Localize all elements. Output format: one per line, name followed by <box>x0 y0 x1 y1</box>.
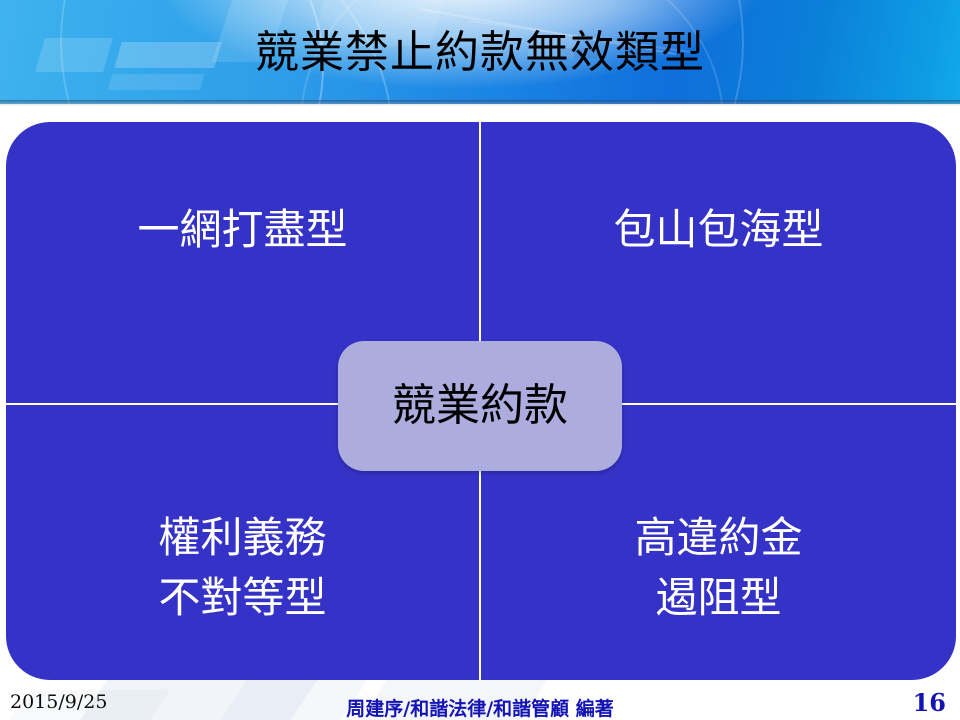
quadrant-top-left-line-1: 一網打盡型 <box>137 200 347 260</box>
footer-page-number: 16 <box>913 688 946 717</box>
quadrant-bottom-left-line-2: 不對等型 <box>158 568 326 628</box>
quadrant-bottom-left-line-1: 權利義務 <box>158 508 326 568</box>
quadrant-top-right-line-1: 包山包海型 <box>613 200 823 260</box>
center-concept-label: 競業約款 <box>392 380 568 432</box>
quadrant-bottom-right-line-1: 高違約金 <box>634 508 802 568</box>
page-title: 競業禁止約款無效類型 <box>0 26 960 80</box>
header-bottom-edge-shadow <box>0 100 960 106</box>
center-concept-badge: 競業約款 <box>338 341 622 471</box>
footer-credit: 周建序/和諧法律/和諧管顧 編著 <box>0 694 960 720</box>
slide-canvas: 競業禁止約款無效類型 一網打盡型 包山包海型 權利義務 不對等型 高違約金 遏阻… <box>0 0 960 720</box>
quadrant-bottom-right-line-2: 遏阻型 <box>655 568 781 628</box>
